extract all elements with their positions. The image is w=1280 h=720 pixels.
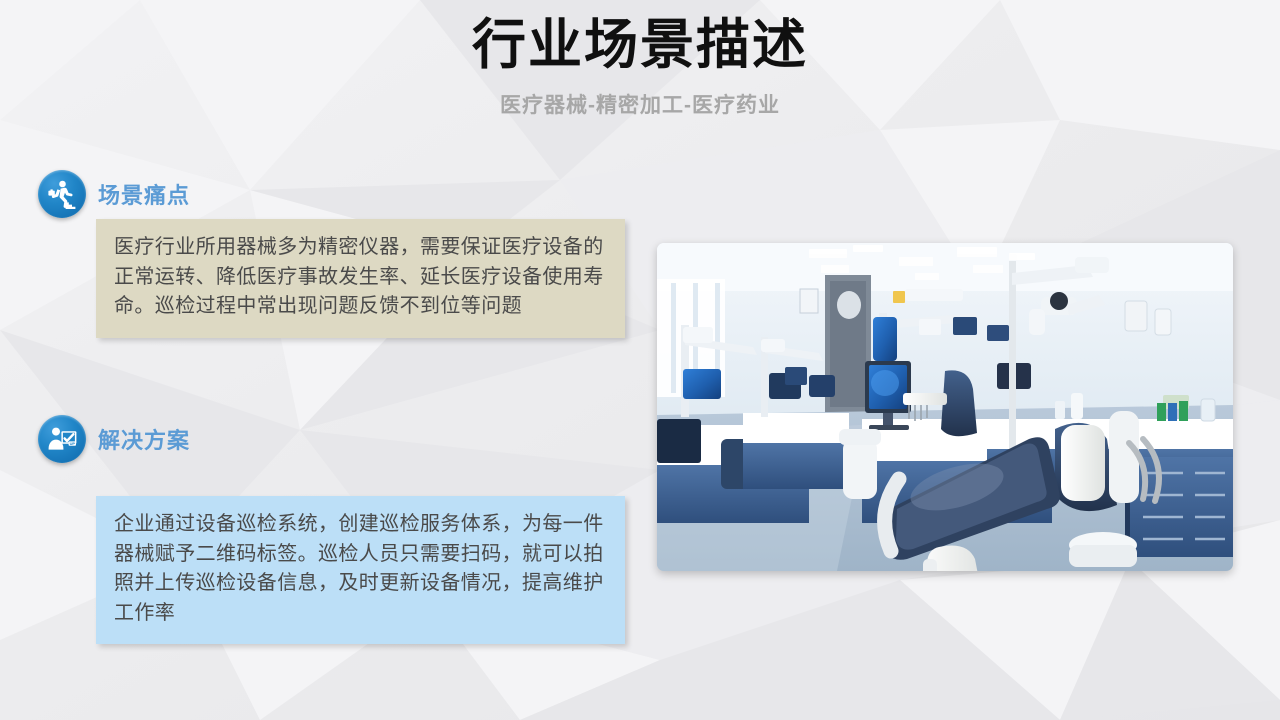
section-title-pain-point: 场景痛点 <box>98 178 190 210</box>
page-title: 行业场景描述 <box>0 14 1280 77</box>
slide-root: 行业场景描述 医疗器械-精密加工-医疗药业 场景痛点 医疗行业所用器械多为精密仪… <box>0 0 1280 720</box>
card-solution-text: 企业通过设备巡检系统，创建巡检服务体系，为每一件器械赋予二维码标签。巡检人员只需… <box>114 513 604 624</box>
person-climbing-stairs-icon <box>38 170 86 218</box>
section-header-solution: UP 解决方案 <box>38 415 190 463</box>
svg-text:UP: UP <box>70 441 76 446</box>
title-block: 行业场景描述 医疗器械-精密加工-医疗药业 <box>0 14 1280 119</box>
person-presentation-chart-icon: UP <box>38 415 86 463</box>
card-solution: 企业通过设备巡检系统，创建巡检服务体系，为每一件器械赋予二维码标签。巡检人员只需… <box>96 496 625 644</box>
page-subtitle: 医疗器械-精密加工-医疗药业 <box>0 89 1280 119</box>
card-pain-point: 医疗行业所用器械多为精密仪器，需要保证医疗设备的正常运转、降低医疗事故发生率、延… <box>96 219 625 338</box>
dental-clinic-interior-photo <box>657 243 1233 571</box>
section-title-solution: 解决方案 <box>98 423 190 455</box>
section-header-pain-point: 场景痛点 <box>38 170 190 218</box>
card-pain-point-text: 医疗行业所用器械多为精密仪器，需要保证医疗设备的正常运转、降低医疗事故发生率、延… <box>114 236 604 317</box>
